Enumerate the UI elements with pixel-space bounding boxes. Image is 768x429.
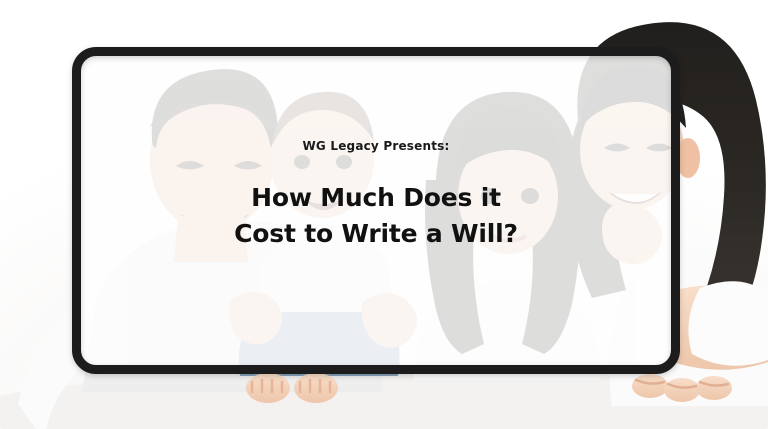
- brand-presents-label: WG Legacy Presents:: [302, 140, 449, 152]
- headline-line-2: Cost to Write a Will?: [234, 216, 518, 252]
- headline-line-1: How Much Does it: [234, 180, 518, 216]
- slide-canvas: WG Legacy Presents: How Much Does it Cos…: [0, 0, 768, 429]
- slide-text-block: WG Legacy Presents: How Much Does it Cos…: [72, 47, 680, 374]
- page-title: How Much Does it Cost to Write a Will?: [234, 180, 518, 251]
